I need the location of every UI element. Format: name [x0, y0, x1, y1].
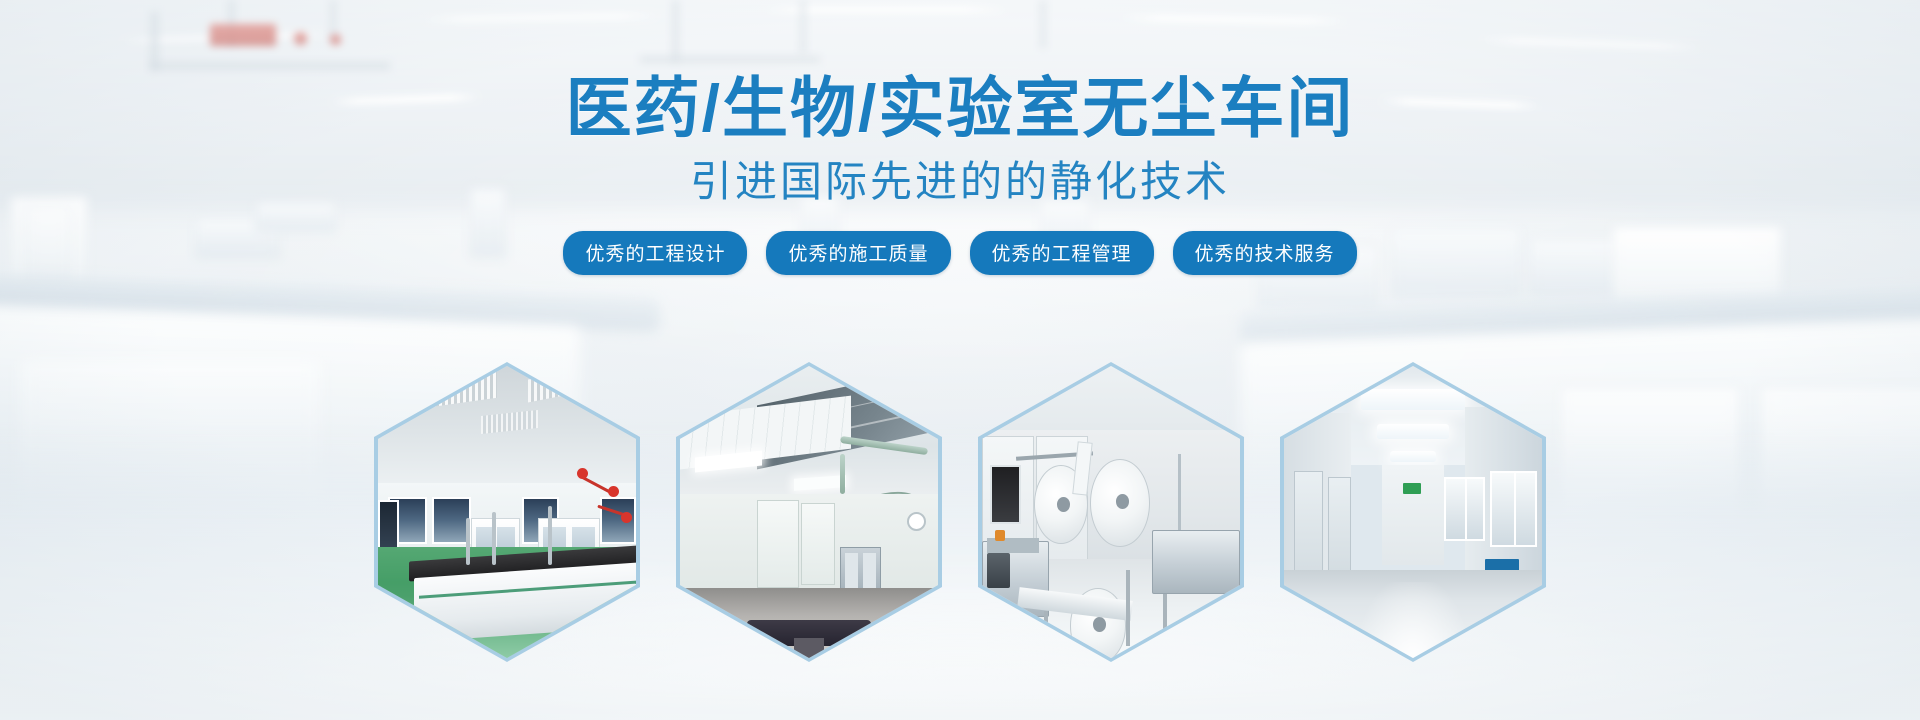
corridor-window	[1490, 471, 1536, 547]
window-mullion	[1514, 473, 1516, 545]
hexagon-clip	[680, 366, 938, 658]
or-surgical-lamp-post	[840, 454, 845, 495]
machine-leg	[1044, 611, 1048, 658]
feature-badge-project-management[interactable]: 优秀的工程管理	[970, 231, 1154, 275]
exit-sign	[1403, 483, 1421, 494]
machine-leg	[1003, 611, 1007, 658]
banner-subtitle: 引进国际先进的的静化技术	[0, 159, 1920, 205]
feature-badge-list: 优秀的工程设计 优秀的施工质量 优秀的工程管理 优秀的技术服务	[0, 231, 1920, 275]
or-door	[801, 503, 835, 585]
corridor-window	[1444, 477, 1485, 541]
or-wall-clock	[907, 512, 926, 531]
lab-faucet	[548, 506, 552, 564]
lab-faucet	[466, 518, 470, 565]
corridor-ceiling-light	[1361, 389, 1464, 409]
machine-panel	[987, 553, 1010, 588]
lab-red-valve	[577, 468, 588, 479]
corridor-ceiling-light	[1390, 451, 1436, 463]
corridor-ceiling-light	[1377, 424, 1449, 439]
machine-cabinet	[1152, 530, 1240, 594]
cleanroom-corridor-photo	[1284, 366, 1542, 658]
feature-badge-technical-service[interactable]: 优秀的技术服务	[1173, 231, 1357, 275]
machine-post	[1178, 454, 1181, 530]
material-roll-hub	[1116, 494, 1129, 509]
material-roll-hub	[1057, 497, 1070, 512]
corridor-end-wall	[1382, 465, 1444, 564]
hexagon-item-packaging-line[interactable]	[978, 362, 1244, 662]
hexagon-clip	[1284, 366, 1542, 658]
or-door	[757, 500, 798, 588]
machine-indicator	[995, 530, 1005, 542]
machine-leg	[1126, 570, 1130, 646]
feature-badge-engineering-design[interactable]: 优秀的工程设计	[563, 231, 747, 275]
hexagon-clip	[378, 366, 636, 658]
corridor-floor-reflection	[1361, 582, 1464, 658]
pharmaceutical-packaging-line-photo	[982, 366, 1240, 658]
blue-crate	[982, 617, 1013, 652]
banner-content: 医药/生物/实验室无尘车间 引进国际先进的的静化技术 优秀的工程设计 优秀的施工…	[0, 0, 1920, 275]
material-roll-hub	[1093, 617, 1106, 632]
operating-room-photo	[680, 366, 938, 658]
hexagon-item-operating-room[interactable]	[676, 362, 942, 662]
corridor-door	[1294, 471, 1322, 582]
hexagon-gallery	[0, 362, 1920, 662]
hexagon-item-laboratory[interactable]	[374, 362, 640, 662]
lab-red-valve	[621, 512, 632, 523]
lab-red-valve	[608, 486, 619, 497]
feature-badge-construction-quality[interactable]: 优秀的施工质量	[766, 231, 950, 275]
lab-faucet	[492, 512, 496, 565]
window-mullion	[1465, 479, 1467, 539]
hexagon-clip	[982, 366, 1240, 658]
corridor-door	[1328, 477, 1351, 576]
laboratory-green-floor-photo	[378, 366, 636, 658]
plant-control-screen	[990, 465, 1021, 523]
hero-banner: 医药/生物/实验室无尘车间 引进国际先进的的静化技术 优秀的工程设计 优秀的施工…	[0, 0, 1920, 720]
banner-title: 医药/生物/实验室无尘车间	[0, 74, 1920, 143]
hexagon-item-corridor[interactable]	[1280, 362, 1546, 662]
